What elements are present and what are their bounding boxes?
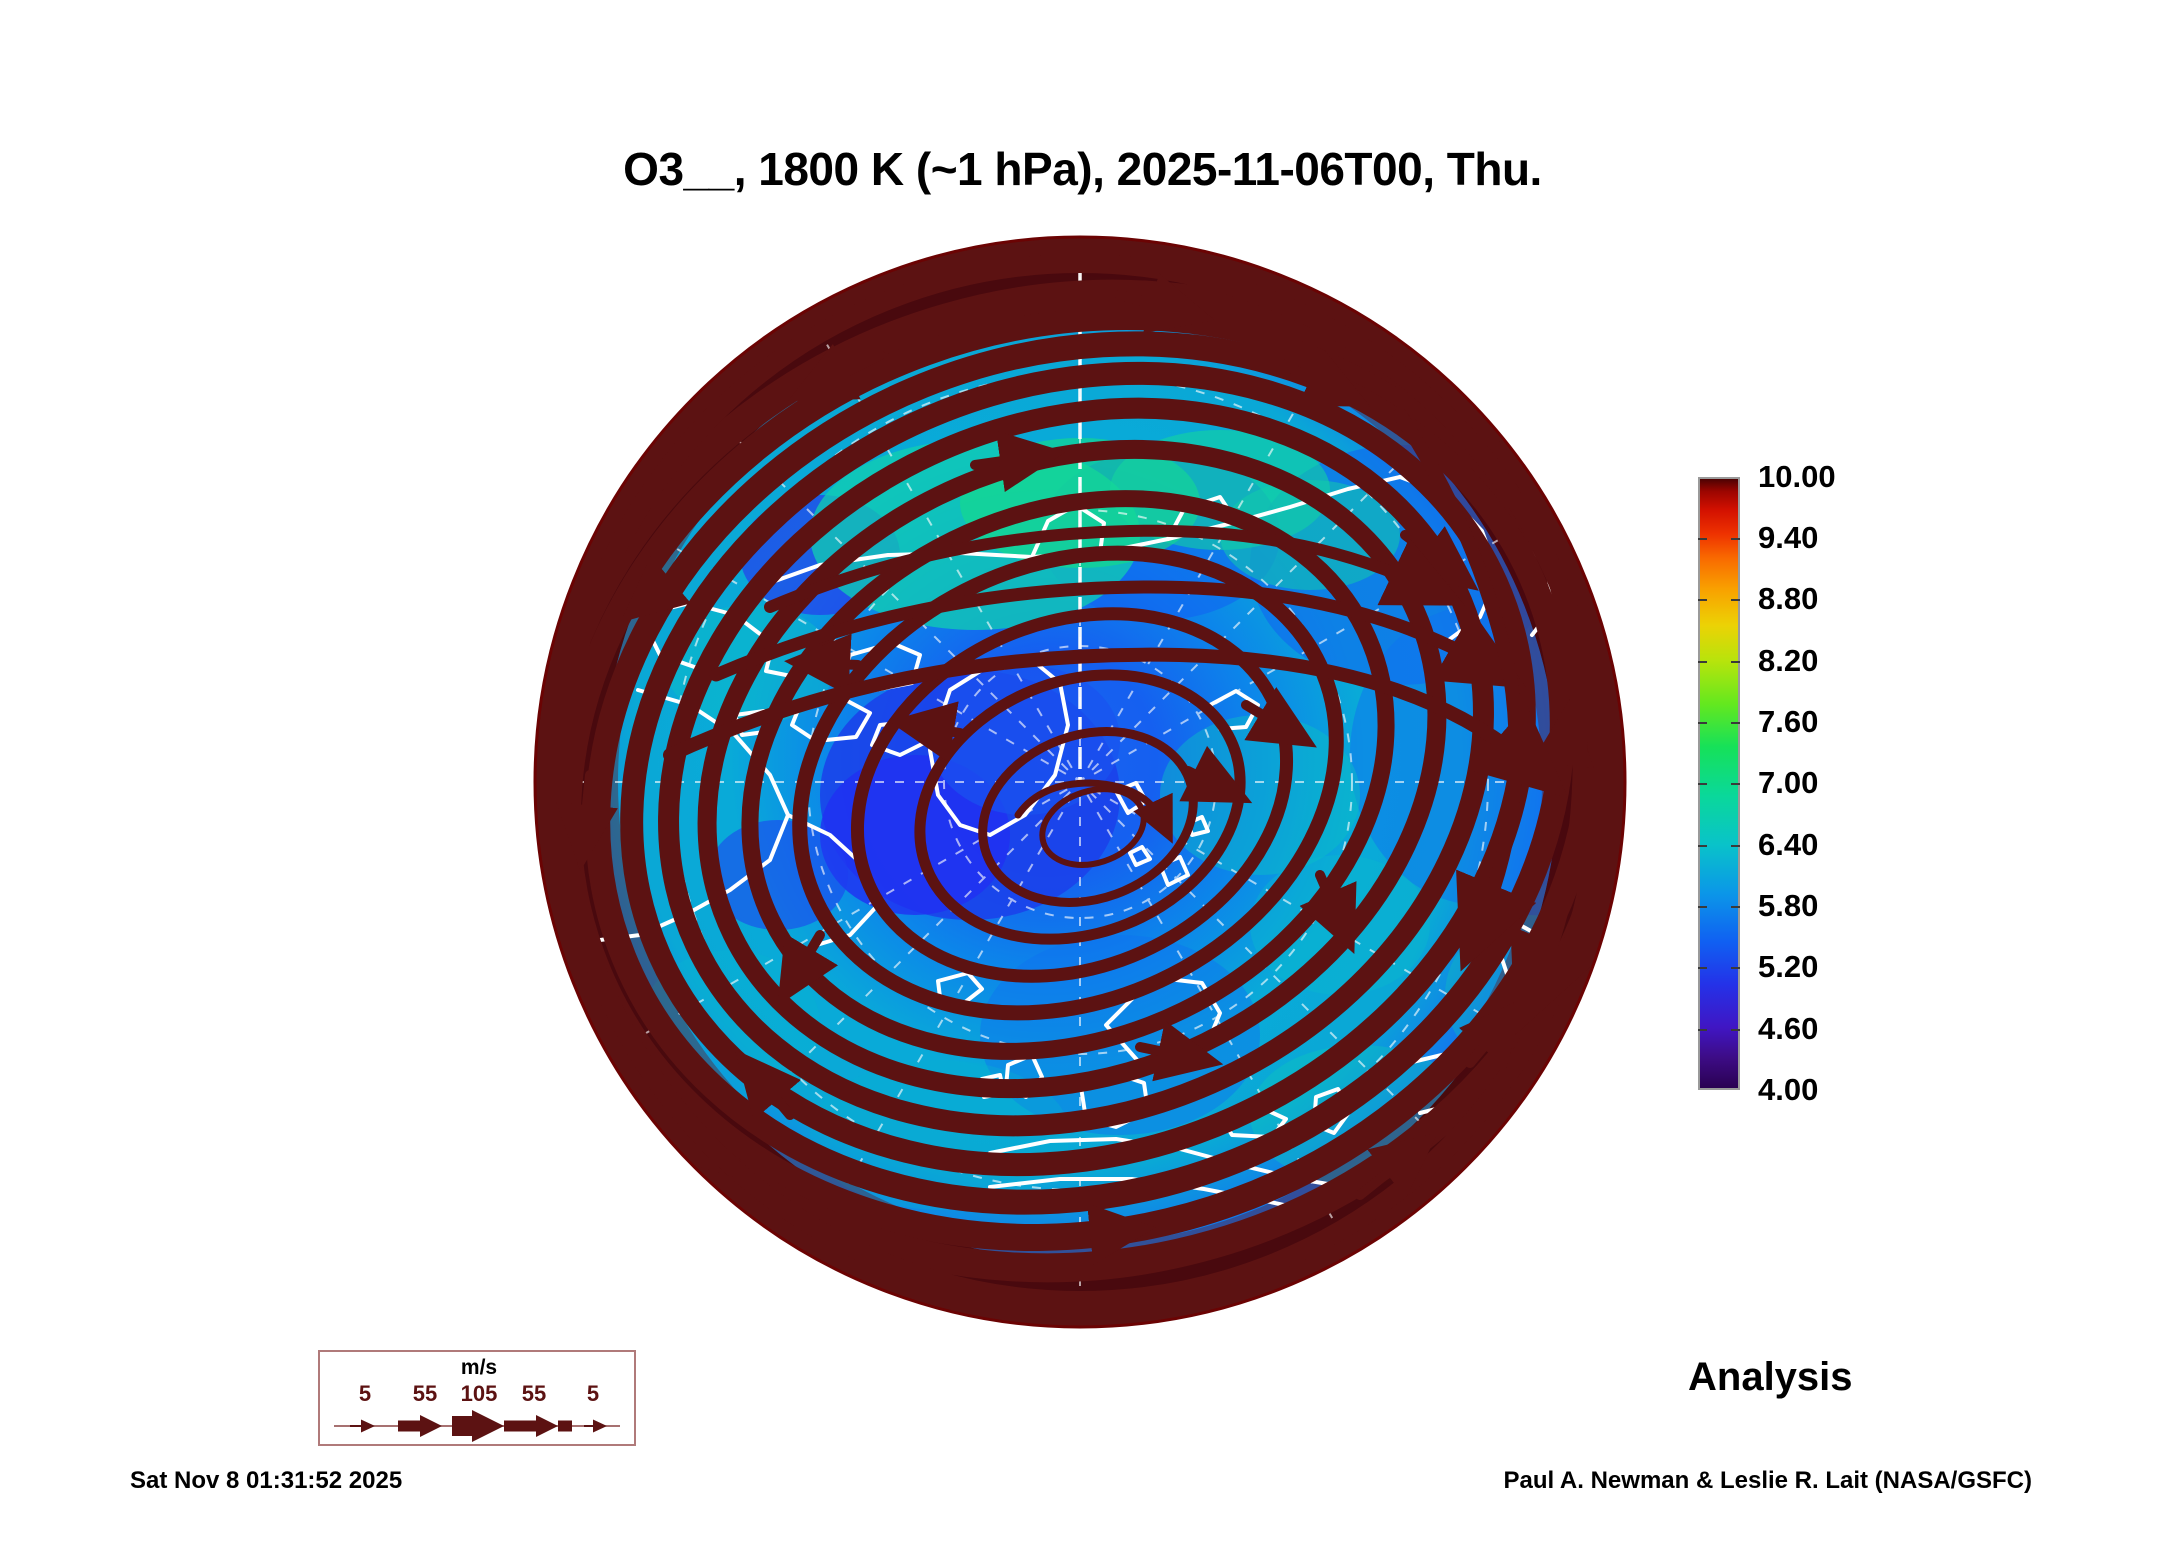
generation-timestamp: Sat Nov 8 01:31:52 2025 <box>130 1467 402 1495</box>
wind-legend-value: 105 <box>461 1381 498 1407</box>
wind-legend-value: 55 <box>522 1381 546 1407</box>
colorbar[interactable]: 10.00 9.40 8.80 8.20 7.60 7.00 6.40 5.80… <box>1698 477 2098 1097</box>
colorbar-label: 10.00 <box>1758 459 1836 495</box>
colorbar-tick <box>1698 1029 1707 1031</box>
colorbar-tick <box>1698 538 1707 540</box>
polar-map-panel[interactable] <box>520 235 1640 1330</box>
colorbar-tick <box>1731 845 1740 847</box>
colorbar-tick <box>1731 538 1740 540</box>
colorbar-tick <box>1731 783 1740 785</box>
wind-legend-value: 55 <box>413 1381 437 1407</box>
colorbar-tick <box>1698 599 1707 601</box>
colorbar-label: 7.60 <box>1758 704 1818 740</box>
colorbar-tick <box>1698 906 1707 908</box>
analysis-label: Analysis <box>1688 1355 1853 1400</box>
colorbar-tick <box>1698 783 1707 785</box>
colorbar-label: 8.20 <box>1758 643 1818 679</box>
page-title: O3__, 1800 K (~1 hPa), 2025-11-06T00, Th… <box>0 142 2165 196</box>
colorbar-label: 8.80 <box>1758 581 1818 617</box>
colorbar-tick <box>1731 599 1740 601</box>
wind-speed-legend: m/s 5 55 105 55 5 <box>318 1350 636 1446</box>
colorbar-tick <box>1731 1029 1740 1031</box>
colorbar-tick <box>1698 845 1707 847</box>
wind-legend-value: 5 <box>359 1381 371 1407</box>
colorbar-label: 6.40 <box>1758 827 1818 863</box>
colorbar-tick <box>1731 661 1740 663</box>
colorbar-label: 4.60 <box>1758 1011 1818 1047</box>
colorbar-label: 4.00 <box>1758 1072 1818 1108</box>
polar-stereographic-map[interactable] <box>520 235 1640 1330</box>
colorbar-label: 5.80 <box>1758 888 1818 924</box>
colorbar-tick <box>1731 906 1740 908</box>
colorbar-label: 7.00 <box>1758 765 1818 801</box>
colorbar-tick <box>1731 722 1740 724</box>
wind-legend-value: 5 <box>587 1381 599 1407</box>
colorbar-label: 9.40 <box>1758 520 1818 556</box>
colorbar-tick <box>1698 722 1707 724</box>
colorbar-tick <box>1731 967 1740 969</box>
wind-legend-arrow-scale <box>320 1408 634 1444</box>
colorbar-tick <box>1698 967 1707 969</box>
wind-legend-unit-label: m/s <box>320 1356 638 1380</box>
author-credits: Paul A. Newman & Leslie R. Lait (NASA/GS… <box>1503 1467 2032 1495</box>
colorbar-tick <box>1698 661 1707 663</box>
colorbar-label: 5.20 <box>1758 949 1818 985</box>
